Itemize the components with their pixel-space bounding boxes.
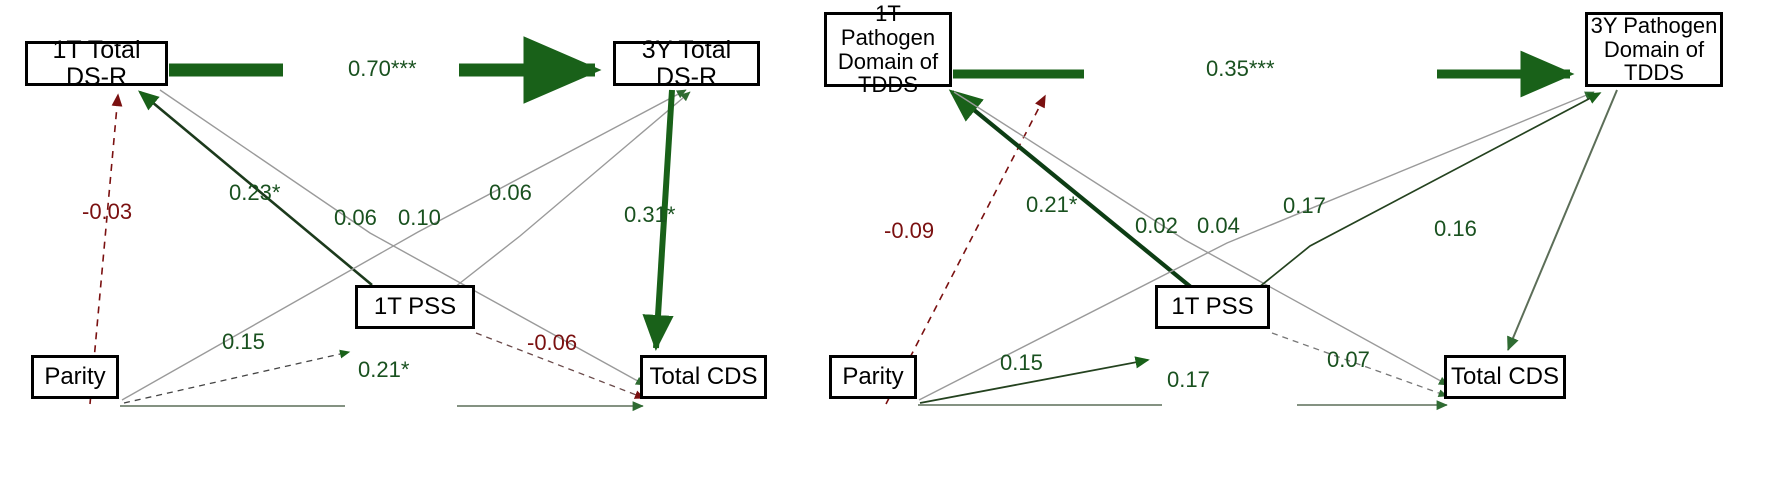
edge-label-parity-cds-b: 0.21* (358, 357, 409, 383)
edge-label-parity-pss: 0.06 (334, 205, 377, 231)
edge-label-parity-t1dsr: -0.03 (82, 199, 132, 225)
edge-parity-to-y3dsr (122, 90, 686, 400)
path-diagram-figure: 1T Total DS-R 3Y Total DS-R 1T PSS Parit… (0, 0, 1772, 487)
node-3y-pathogen-tdds[interactable]: 3Y Pathogen Domain of TDDS (1585, 12, 1723, 87)
edge-label-pss-y3path: 0.17 (1283, 193, 1326, 219)
node-parity-right[interactable]: Parity (829, 355, 917, 399)
node-label: Parity (42, 364, 107, 390)
edge-label-pss-t1dsr: 0.23* (229, 180, 280, 206)
edge-parity-to-pss (124, 352, 349, 403)
edge-label-parity-cds-a: 0.15 (222, 329, 265, 355)
node-label: 1T PSS (372, 294, 458, 320)
edge-label-parity-cds-b-right: 0.17 (1167, 367, 1210, 393)
node-label: Total CDS (1449, 364, 1561, 390)
edge-label-pss-cds-right: 0.07 (1327, 347, 1370, 373)
node-1t-pathogen-tdds[interactable]: 1T Pathogen Domain of TDDS (824, 12, 952, 87)
node-1t-pss-right[interactable]: 1T PSS (1155, 285, 1270, 329)
edge-label-pss-t1path: 0.21* (1026, 192, 1077, 218)
node-parity-left[interactable]: Parity (31, 355, 119, 399)
edge-y3path-to-cds (1508, 90, 1617, 350)
edge-pss-to-t1path (952, 92, 1192, 288)
node-total-cds-right[interactable]: Total CDS (1444, 355, 1566, 399)
node-1t-total-dsr[interactable]: 1T Total DS-R (25, 41, 168, 86)
edge-label-stability-right: 0.35*** (1206, 56, 1275, 82)
edge-label-pss-y3dsr: 0.06 (489, 180, 532, 206)
node-label: 1T Pathogen Domain of TDDS (827, 2, 949, 96)
edge-label-parity-y3dsr: 0.10 (398, 205, 441, 231)
edge-label-pss-cds: -0.06 (527, 330, 577, 356)
node-1t-pss-left[interactable]: 1T PSS (355, 285, 475, 329)
node-label: 3Y Pathogen Domain of TDDS (1589, 14, 1720, 85)
node-3y-total-dsr[interactable]: 3Y Total DS-R (613, 41, 760, 86)
node-label: 1T PSS (1169, 294, 1255, 320)
node-total-cds-left[interactable]: Total CDS (640, 355, 767, 399)
edge-pss-to-y3path (1258, 93, 1600, 288)
edge-label-parity-t1path: -0.09 (884, 218, 934, 244)
edge-label-y3dsr-cds: 0.31* (624, 202, 675, 228)
node-label: Parity (840, 364, 905, 390)
node-label: Total CDS (647, 364, 759, 390)
node-label: 1T Total DS-R (28, 37, 165, 91)
edge-label-parity-cds-a-right: 0.15 (1000, 350, 1043, 376)
edge-label-stability-left: 0.70*** (348, 56, 417, 82)
edge-label-y3path-cds: 0.16 (1434, 216, 1477, 242)
edge-label-parity-y3path: 0.04 (1197, 213, 1240, 239)
node-label: 3Y Total DS-R (616, 37, 757, 91)
edge-label-parity-pss-right: 0.02 (1135, 213, 1178, 239)
